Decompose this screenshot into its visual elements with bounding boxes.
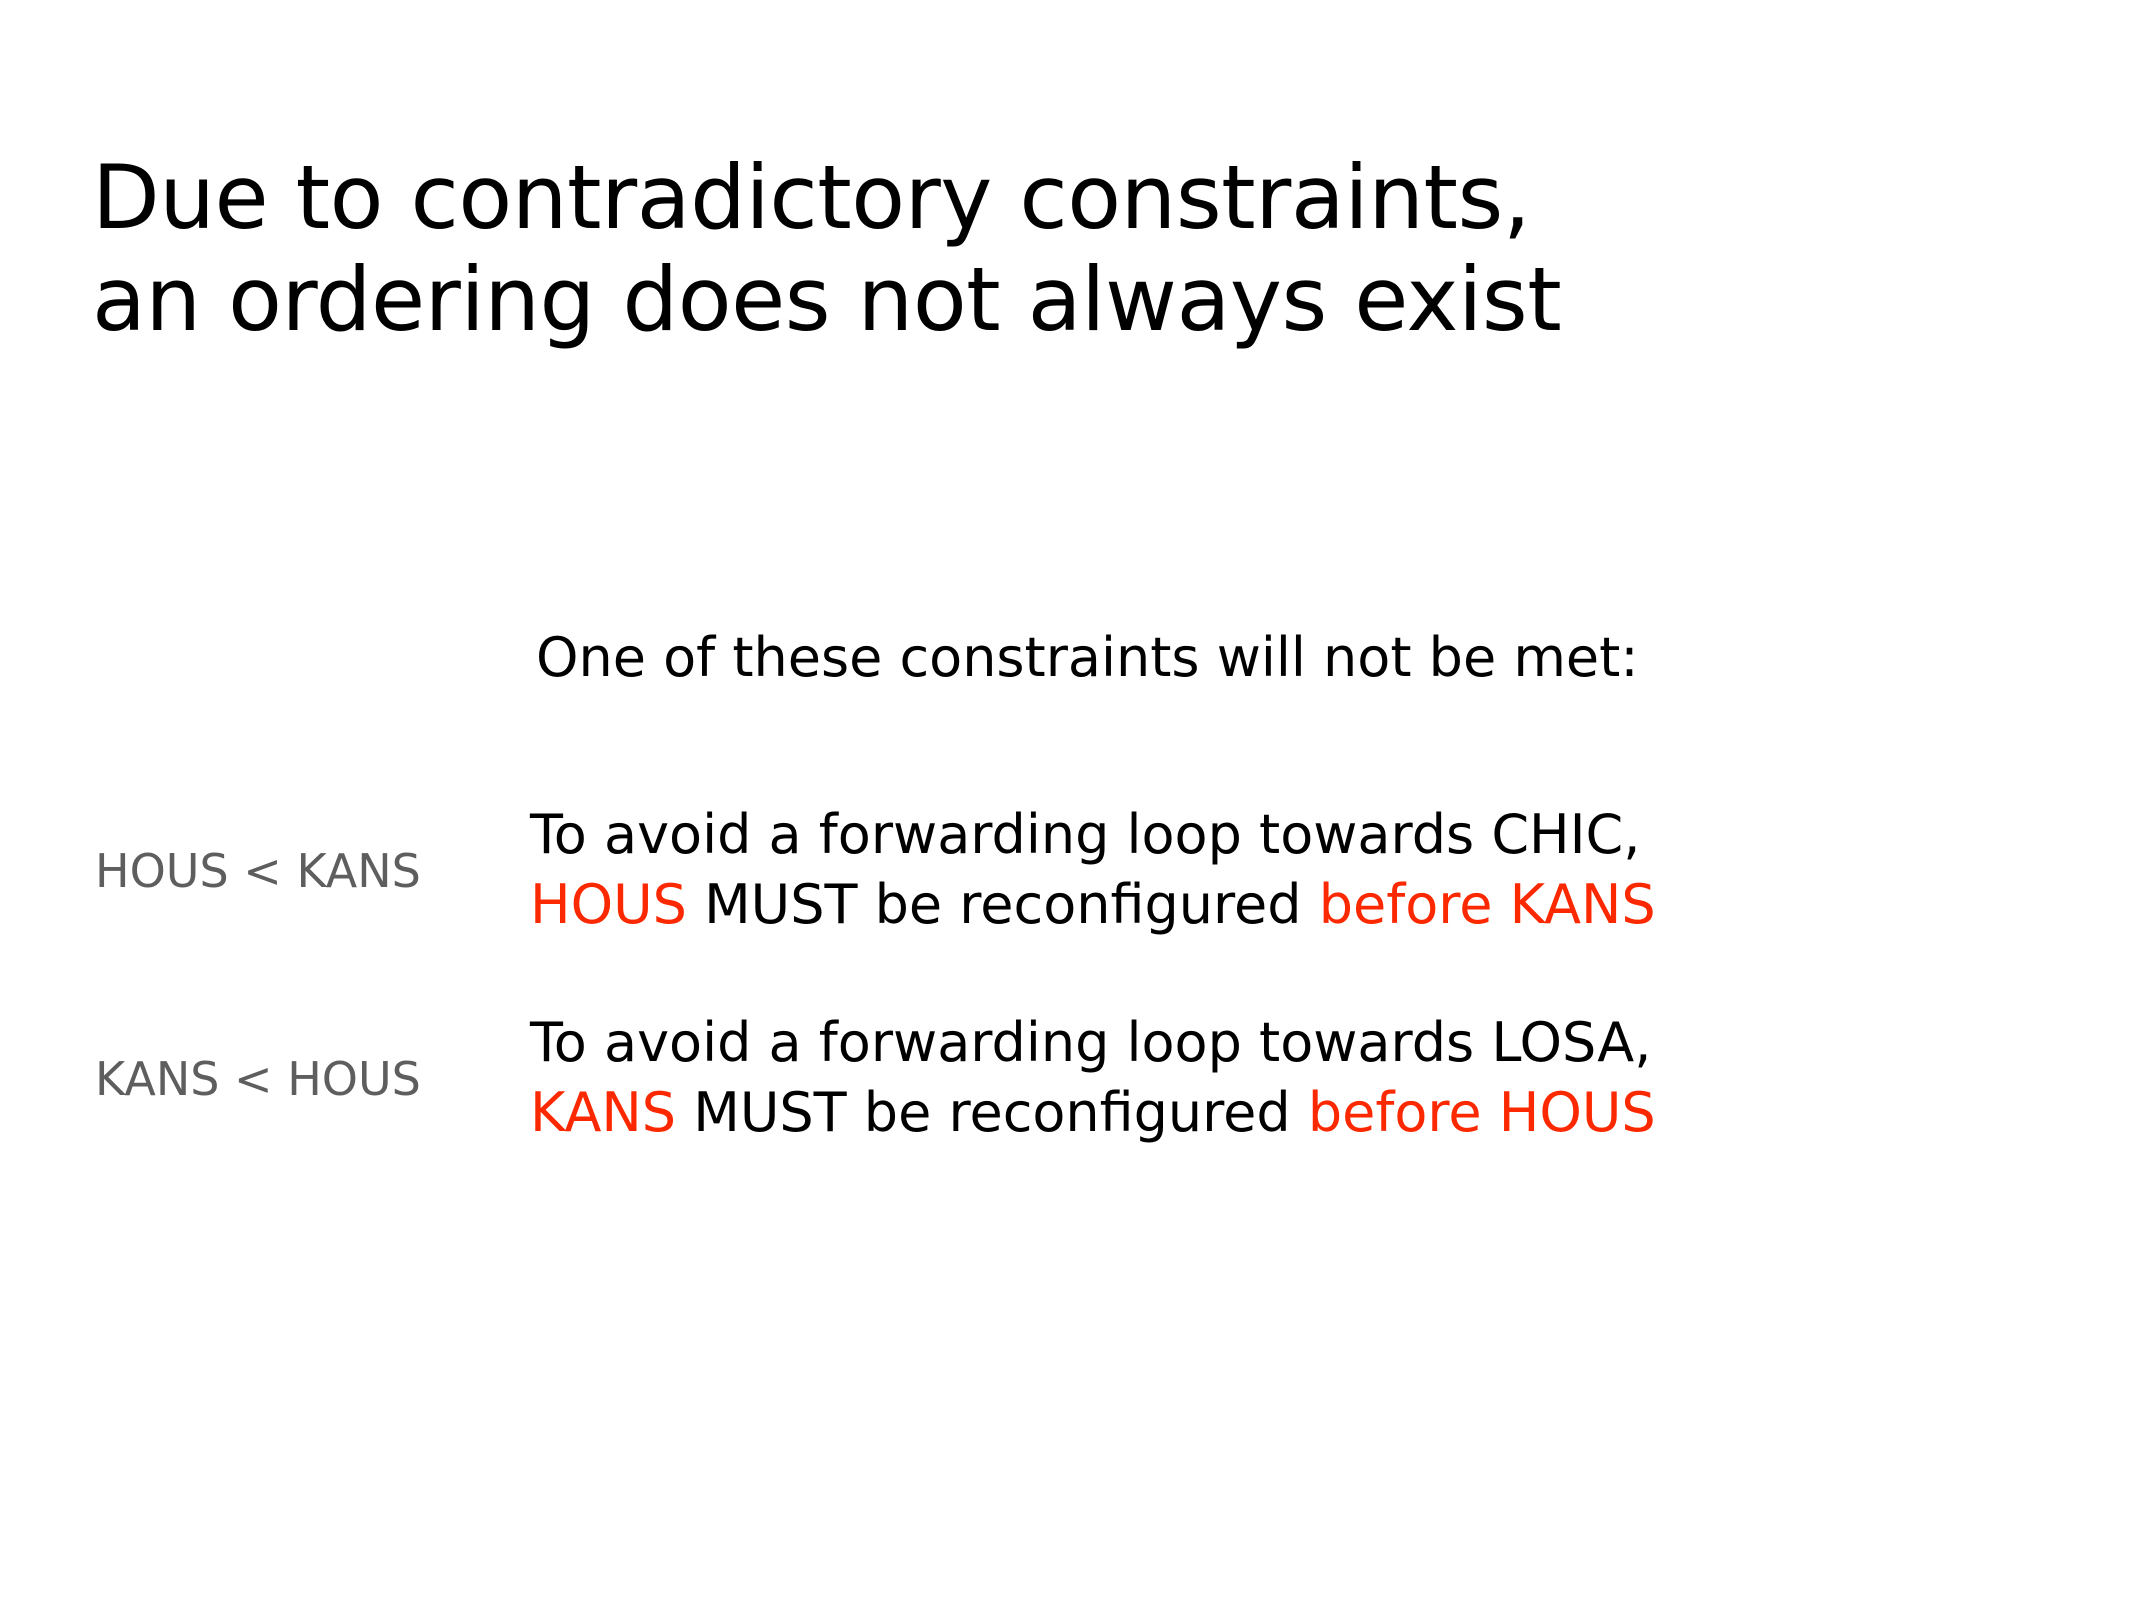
constraint-reason-line: To avoid a forwarding loop towards LOSA, bbox=[530, 1008, 2030, 1078]
constraint-body: To avoid a forwarding loop towards LOSA,… bbox=[530, 1008, 2030, 1148]
constraint-router-token: HOUS bbox=[530, 873, 687, 936]
constraint-row: HOUS < KANS To avoid a forwarding loop t… bbox=[0, 800, 2134, 990]
constraint-body: To avoid a forwarding loop towards CHIC,… bbox=[530, 800, 2030, 940]
constraint-row: KANS < HOUS To avoid a forwarding loop t… bbox=[0, 1008, 2134, 1198]
constraint-order-token: before KANS bbox=[1319, 873, 1656, 936]
constraint-rule-line: HOUS MUST be reconfigured before KANS bbox=[530, 870, 2030, 940]
lead-in-text: One of these constraints will not be met… bbox=[536, 626, 1639, 691]
constraint-reason-line: To avoid a forwarding loop towards CHIC, bbox=[530, 800, 2030, 870]
constraint-middle-token: MUST be reconfigured bbox=[687, 873, 1319, 936]
constraint-router-token: KANS bbox=[530, 1081, 676, 1144]
constraint-order-token: before HOUS bbox=[1308, 1081, 1656, 1144]
constraint-middle-token: MUST be reconfigured bbox=[676, 1081, 1308, 1144]
constraint-rule-line: KANS MUST be reconfigured before HOUS bbox=[530, 1078, 2030, 1148]
slide-canvas: Due to contradictory constraints, an ord… bbox=[0, 0, 2134, 1600]
page-title: Due to contradictory constraints, an ord… bbox=[92, 147, 1992, 351]
constraint-key: HOUS < KANS bbox=[95, 844, 495, 899]
constraint-key: KANS < HOUS bbox=[95, 1052, 495, 1107]
